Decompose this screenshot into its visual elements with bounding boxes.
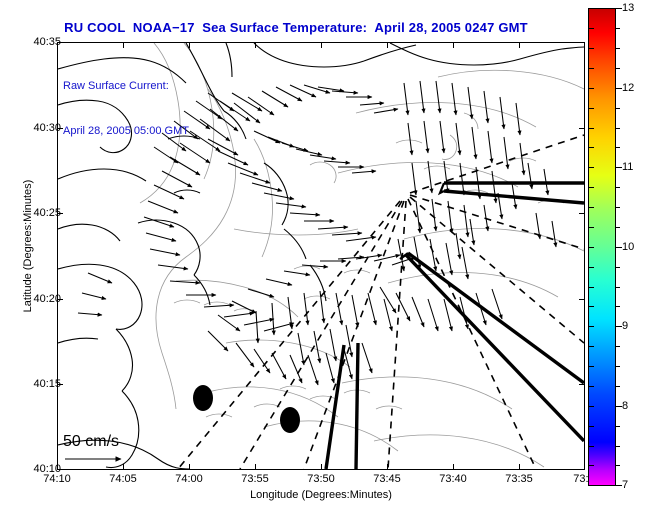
- colorbar-left-tick: [589, 287, 594, 288]
- colorbar-minor-tick: [616, 267, 620, 268]
- colorbar-minor-tick: [616, 386, 620, 387]
- colorbar-left-tick: [589, 386, 594, 387]
- colorbar-minor-tick: [616, 346, 620, 347]
- x-tick-mark: [57, 464, 58, 470]
- colorbar-minor-tick: [616, 28, 620, 29]
- colorbar-minor-tick: [616, 366, 620, 367]
- x-tick-label: 74:00: [159, 473, 219, 485]
- x-tick-label: 74:05: [93, 473, 153, 485]
- colorbar-left-tick: [589, 366, 594, 367]
- x-tick-mark: [519, 464, 520, 470]
- colorbar-minor-tick: [616, 68, 620, 69]
- x-tick-mark: [584, 464, 585, 470]
- colorbar-minor-tick: [616, 227, 620, 228]
- x-tick-mark-top: [189, 42, 190, 48]
- map-plot-area[interactable]: Raw Surface Current: April 28, 2005 05:0…: [57, 42, 585, 470]
- colorbar-minor-tick: [616, 187, 620, 188]
- x-tick-mark: [321, 464, 322, 470]
- x-tick-label: 73:35: [489, 473, 549, 485]
- colorbar-minor-tick: [616, 446, 620, 447]
- colorbar-left-tick: [589, 426, 594, 427]
- colorbar-minor-tick: [616, 48, 620, 49]
- colorbar-left-tick: [589, 267, 594, 268]
- colorbar-left-tick: [589, 406, 594, 407]
- colorbar-minor-tick: [616, 128, 620, 129]
- colorbar-minor-tick: [616, 147, 620, 148]
- x-axis-label: Longitude (Degrees:Minutes): [57, 489, 585, 501]
- y-tick-mark-right: [579, 128, 585, 129]
- colorbar-minor-tick: [616, 207, 620, 208]
- x-tick-mark-top: [321, 42, 322, 48]
- radar-beam-vertex: [400, 183, 444, 259]
- scale-legend-label: 50 cm/s: [63, 433, 183, 451]
- station-marker: [193, 385, 213, 411]
- colorbar-minor-tick: [616, 306, 620, 307]
- colorbar-label: 12: [622, 82, 634, 94]
- colorbar-left-tick: [589, 306, 594, 307]
- x-tick-mark-top: [255, 42, 256, 48]
- x-tick-mark-top: [387, 42, 388, 48]
- colorbar-left-tick: [589, 88, 594, 89]
- station-marker: [280, 407, 300, 433]
- y-tick-label: 40:15: [17, 378, 61, 390]
- sst-map-figure: RU COOL NOAA−17 Sea Surface Temperature:…: [0, 0, 651, 515]
- colorbar-left-tick: [589, 207, 594, 208]
- colorbar-left-tick: [589, 28, 594, 29]
- y-tick-mark-right: [579, 299, 585, 300]
- colorbar-left-tick: [589, 128, 594, 129]
- colorbar-left-tick: [589, 68, 594, 69]
- colorbar-label: 13: [622, 2, 634, 14]
- colorbar-left-tick: [589, 187, 594, 188]
- colorbar-left-tick: [589, 326, 594, 327]
- x-tick-mark-top: [123, 42, 124, 48]
- x-tick-label: 73:55: [225, 473, 285, 485]
- colorbar-label: 9: [622, 320, 628, 332]
- right-arrow-icon: [63, 451, 173, 467]
- x-tick-mark-top: [519, 42, 520, 48]
- radar-beam-lines-dashed: [178, 135, 584, 469]
- colorbar-left-tick: [589, 48, 594, 49]
- colorbar-label: 8: [622, 400, 628, 412]
- colorbar-label: 10: [622, 241, 634, 253]
- x-tick-mark: [255, 464, 256, 470]
- x-tick-label: 73:50: [291, 473, 351, 485]
- colorbar-minor-tick: [616, 465, 620, 466]
- surface-current-vectors: [78, 81, 556, 385]
- x-tick-label: 73:40: [423, 473, 483, 485]
- x-tick-mark: [453, 464, 454, 470]
- radar-beam-lines-solid: [326, 183, 584, 469]
- colorbar-minor-tick: [616, 108, 620, 109]
- page-title: RU COOL NOAA−17 Sea Surface Temperature:…: [0, 20, 592, 35]
- map-canvas: [58, 43, 584, 469]
- colorbar-left-tick: [589, 167, 594, 168]
- colorbar-left-tick: [589, 227, 594, 228]
- colorbar-label: 7: [622, 479, 628, 491]
- y-tick-mark-right: [579, 42, 585, 43]
- x-tick-mark: [189, 464, 190, 470]
- y-tick-mark-right: [579, 384, 585, 385]
- colorbar-left-tick: [589, 247, 594, 248]
- x-tick-mark: [387, 464, 388, 470]
- y-axis-label: Latitude (Degrees:Minutes): [22, 126, 34, 366]
- x-tick-label: 74:10: [27, 473, 87, 485]
- colorbar-left-tick: [589, 446, 594, 447]
- colorbar-left-tick: [589, 346, 594, 347]
- colorbar-minor-tick: [616, 426, 620, 427]
- radar-station-markers: [193, 385, 300, 433]
- colorbar-minor-tick: [616, 287, 620, 288]
- colorbar-left-tick: [589, 108, 594, 109]
- y-tick-label: 40:35: [17, 36, 61, 48]
- x-tick-mark: [123, 464, 124, 470]
- colorbar-left-tick: [589, 147, 594, 148]
- x-tick-mark-top: [453, 42, 454, 48]
- colorbar-label: 11: [622, 161, 633, 173]
- y-tick-mark-right: [579, 213, 585, 214]
- colorbar-left-tick: [589, 465, 594, 466]
- x-tick-label: 73:45: [357, 473, 417, 485]
